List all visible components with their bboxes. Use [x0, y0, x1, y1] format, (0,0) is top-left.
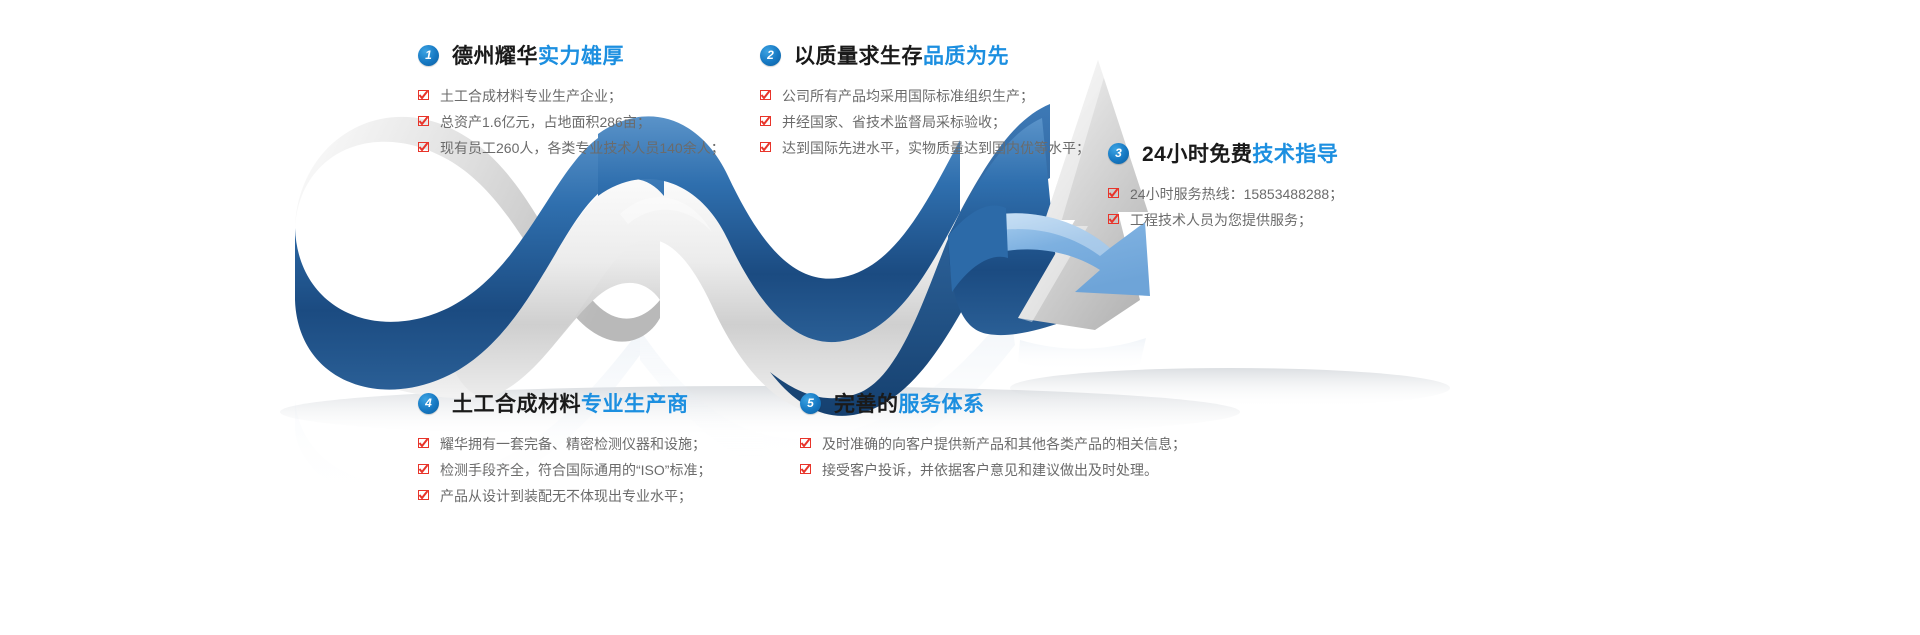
check-icon [800, 457, 811, 474]
check-icon [418, 431, 429, 448]
bullet-text: 达到国际先进水平，实物质量达到国内优等水平； [782, 135, 1090, 161]
feature-4-number-badge: 4 [418, 393, 439, 414]
bullet-item: 总资产1.6亿元，占地面积286亩； [418, 109, 725, 135]
bullet-item: 现有员工260人，各类专业技术人员140余人； [418, 135, 725, 161]
bullet-text: 总资产1.6亿元，占地面积286亩； [440, 109, 651, 135]
feature-1-number-badge: 1 [418, 45, 439, 66]
bullet-item: 接受客户投诉，并依据客户意见和建议做出及时处理。 [800, 457, 1186, 483]
bullet-item: 24小时服务热线：15853488288； [1108, 181, 1343, 207]
bullet-item: 土工合成材料专业生产企业； [418, 83, 725, 109]
feature-3-title-dark: 24小时免费 [1142, 138, 1252, 168]
bullet-text: 工程技术人员为您提供服务； [1130, 207, 1312, 233]
feature-3-title: 3 24小时免费 技术指导 [1108, 138, 1343, 168]
check-icon [418, 457, 429, 474]
bullet-text: 并经国家、省技术监督局采标验收； [782, 109, 1006, 135]
feature-5-title-dark: 完善的 [834, 388, 899, 418]
bullet-text: 及时准确的向客户提供新产品和其他各类产品的相关信息； [822, 431, 1186, 457]
feature-2-title: 2 以质量求生存 品质为先 [760, 40, 1090, 70]
bullet-text: 接受客户投诉，并依据客户意见和建议做出及时处理。 [822, 457, 1158, 483]
bullet-text: 产品从设计到装配无不体现出专业水平； [440, 483, 692, 509]
check-icon [760, 135, 771, 152]
bullet-text: 土工合成材料专业生产企业； [440, 83, 622, 109]
feature-2-bullets: 公司所有产品均采用国际标准组织生产； 并经国家、省技术监督局采标验收； 达到国际… [760, 83, 1090, 161]
bullet-text: 公司所有产品均采用国际标准组织生产； [782, 83, 1034, 109]
feature-1-title-dark: 德州耀华 [452, 40, 538, 70]
feature-4-title: 4 土工合成材料 专业生产商 [418, 388, 711, 418]
feature-1-title-blue: 实力雄厚 [538, 40, 624, 70]
feature-block-3: 3 24小时免费 技术指导 24小时服务热线：15853488288； 工程技术… [1108, 138, 1343, 233]
check-icon [418, 109, 429, 126]
feature-4-bullets: 耀华拥有一套完备、精密检测仪器和设施； 检测手段齐全，符合国际通用的“ISO”标… [418, 431, 711, 509]
bullet-text: 检测手段齐全，符合国际通用的“ISO”标准； [440, 457, 711, 483]
feature-5-number-badge: 5 [800, 393, 821, 414]
bullet-item: 耀华拥有一套完备、精密检测仪器和设施； [418, 431, 711, 457]
check-icon [760, 109, 771, 126]
feature-2-title-blue: 品质为先 [923, 40, 1009, 70]
feature-block-2: 2 以质量求生存 品质为先 公司所有产品均采用国际标准组织生产； 并经国家、省技… [760, 40, 1090, 161]
feature-block-1: 1 德州耀华 实力雄厚 土工合成材料专业生产企业； 总资产1.6亿元，占地面积2… [418, 40, 725, 161]
feature-3-number-badge: 3 [1108, 143, 1129, 164]
check-icon [1108, 207, 1119, 224]
bullet-text: 现有员工260人，各类专业技术人员140余人； [440, 135, 725, 161]
feature-4-title-blue: 专业生产商 [581, 388, 689, 418]
check-icon [800, 431, 811, 448]
feature-block-5: 5 完善的 服务体系 及时准确的向客户提供新产品和其他各类产品的相关信息； 接受… [800, 388, 1186, 483]
bullet-item: 工程技术人员为您提供服务； [1108, 207, 1343, 233]
check-icon [418, 483, 429, 500]
feature-5-title-blue: 服务体系 [899, 388, 985, 418]
feature-2-number-badge: 2 [760, 45, 781, 66]
feature-2-title-dark: 以质量求生存 [794, 40, 923, 70]
feature-4-title-dark: 土工合成材料 [452, 388, 581, 418]
feature-block-4: 4 土工合成材料 专业生产商 耀华拥有一套完备、精密检测仪器和设施； 检测手段齐… [418, 388, 711, 509]
bullet-item: 达到国际先进水平，实物质量达到国内优等水平； [760, 135, 1090, 161]
feature-5-bullets: 及时准确的向客户提供新产品和其他各类产品的相关信息； 接受客户投诉，并依据客户意… [800, 431, 1186, 483]
feature-1-title: 1 德州耀华 实力雄厚 [418, 40, 725, 70]
check-icon [418, 83, 429, 100]
bullet-text: 耀华拥有一套完备、精密检测仪器和设施； [440, 431, 706, 457]
bullet-item: 检测手段齐全，符合国际通用的“ISO”标准； [418, 457, 711, 483]
check-icon [760, 83, 771, 100]
feature-5-title: 5 完善的 服务体系 [800, 388, 1186, 418]
bullet-item: 公司所有产品均采用国际标准组织生产； [760, 83, 1090, 109]
feature-3-bullets: 24小时服务热线：15853488288； 工程技术人员为您提供服务； [1108, 181, 1343, 233]
bullet-item: 并经国家、省技术监督局采标验收； [760, 109, 1090, 135]
bullet-text: 24小时服务热线：15853488288； [1130, 181, 1343, 207]
bullet-item: 及时准确的向客户提供新产品和其他各类产品的相关信息； [800, 431, 1186, 457]
check-icon [418, 135, 429, 152]
feature-1-bullets: 土工合成材料专业生产企业； 总资产1.6亿元，占地面积286亩； 现有员工260… [418, 83, 725, 161]
check-icon [1108, 181, 1119, 198]
feature-3-title-blue: 技术指导 [1252, 138, 1338, 168]
bullet-item: 产品从设计到装配无不体现出专业水平； [418, 483, 711, 509]
infographic-banner: 1 德州耀华 实力雄厚 土工合成材料专业生产企业； 总资产1.6亿元，占地面积2… [0, 0, 1920, 635]
